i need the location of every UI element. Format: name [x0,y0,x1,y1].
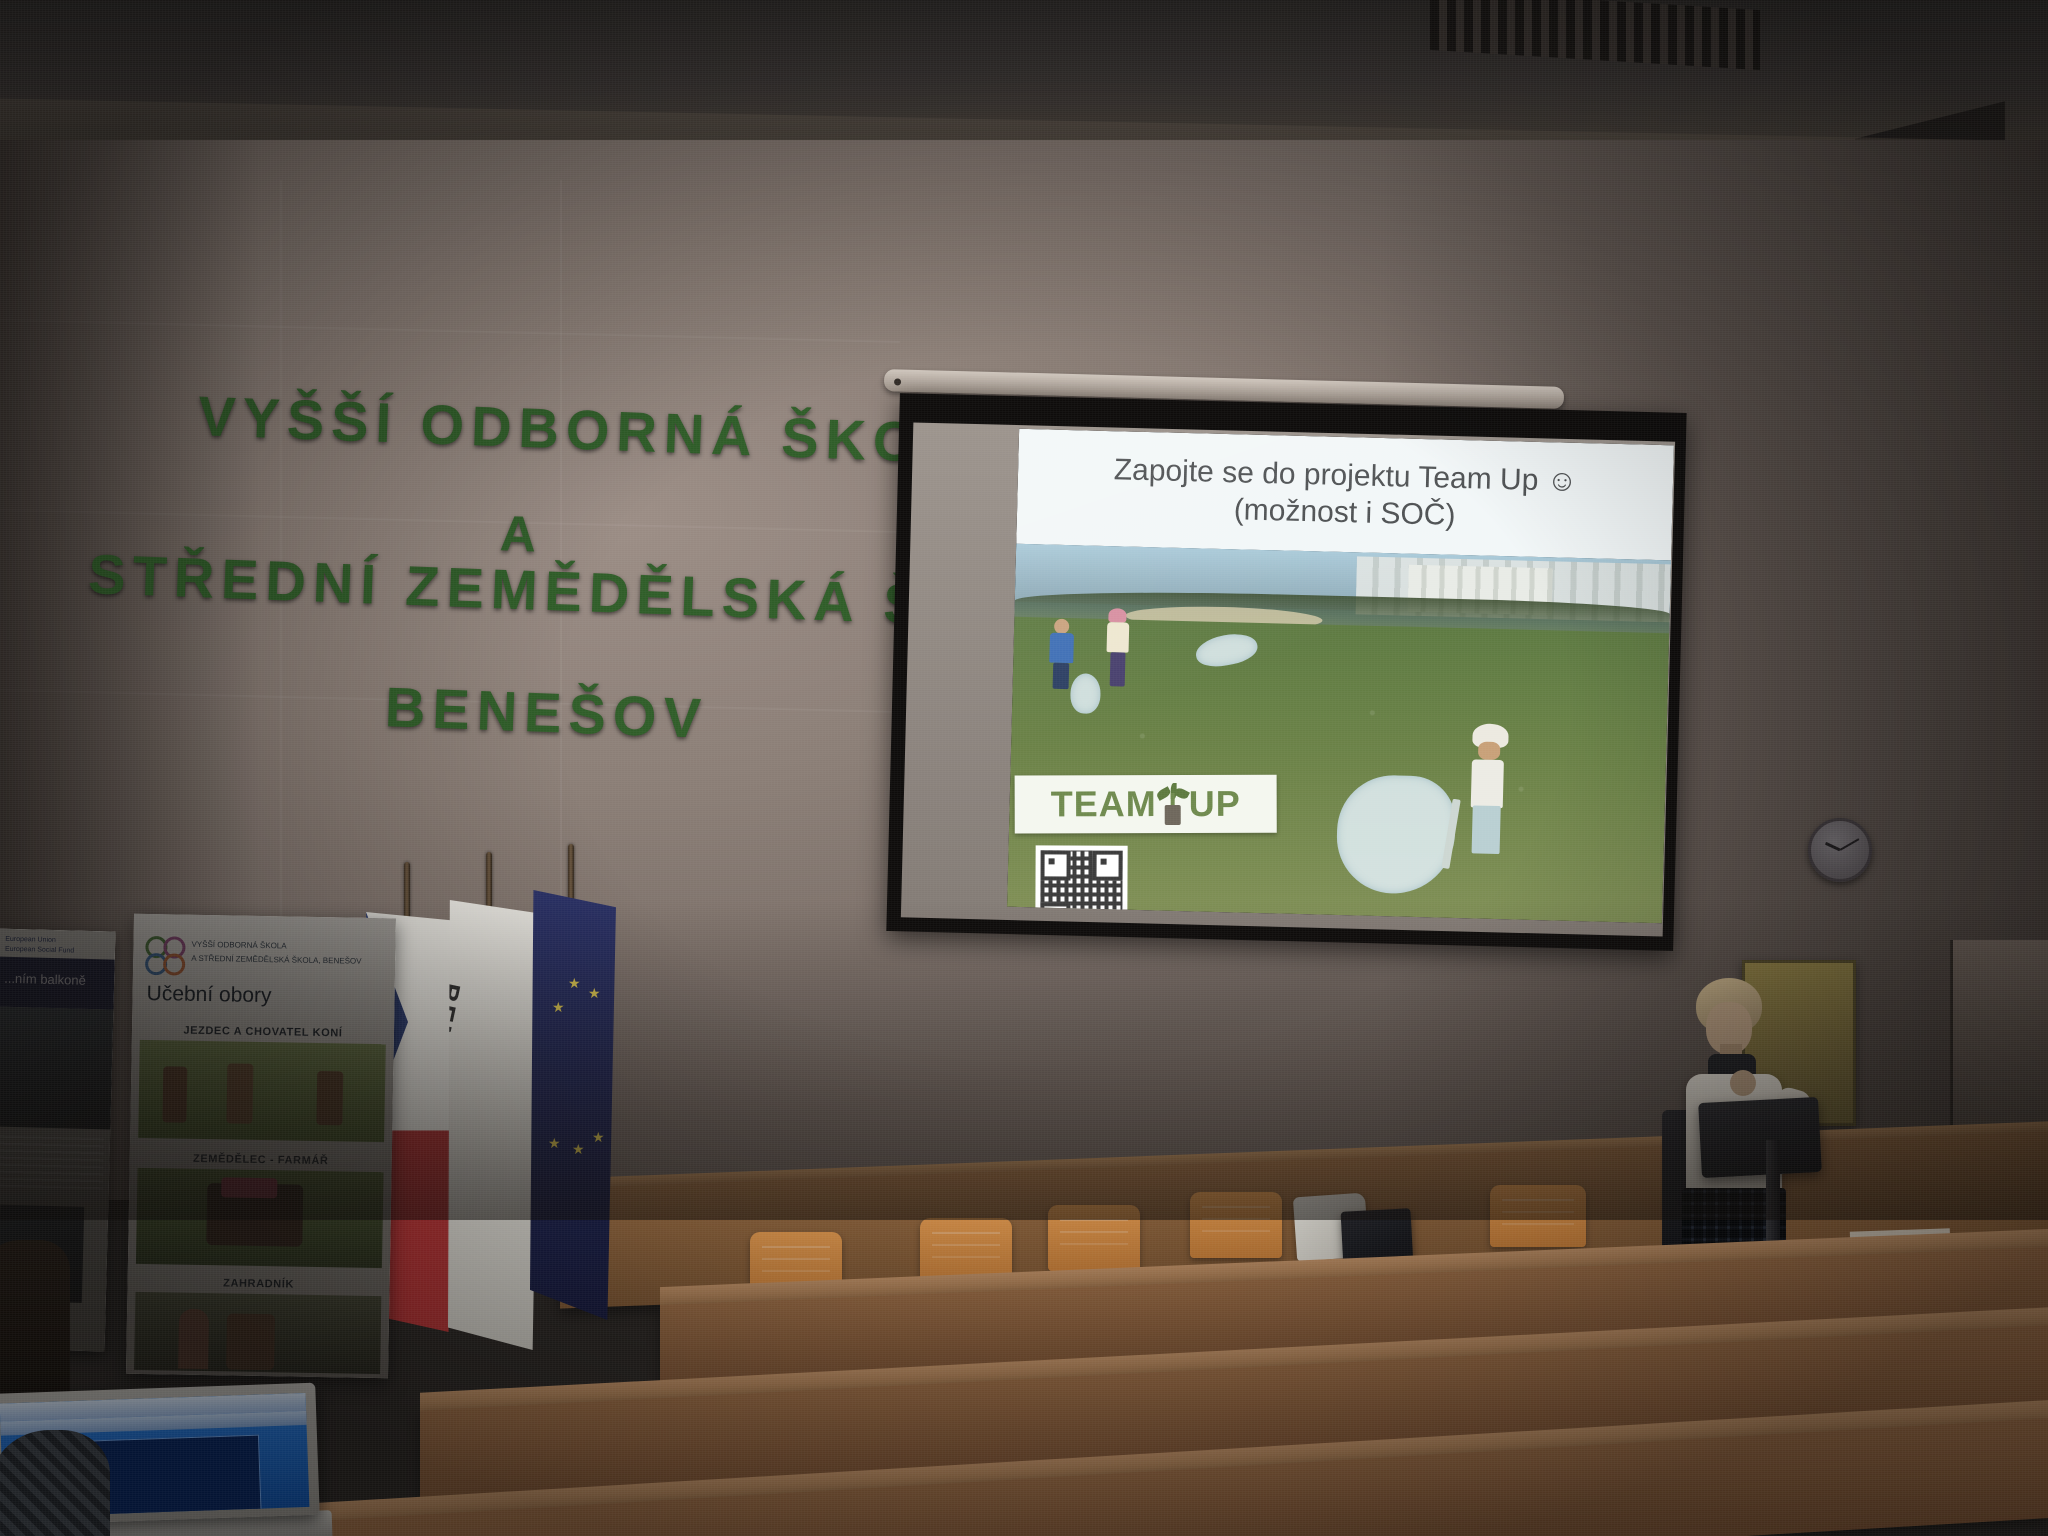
lecture-hall-photo: VYŠŠÍ ODBORNÁ ŠKOLA A STŘEDNÍ ZEMĚDĚLSKÁ… [0,0,2048,1536]
child-legs [1110,652,1126,686]
child-pants [1472,805,1501,854]
child-face [1478,742,1500,761]
clock-hour-hand [1825,842,1841,851]
photo-insect-net-1 [1070,673,1101,714]
slide-title-line-2: (možnost i SOČ) [1233,492,1456,534]
child-body [1107,622,1130,653]
lower-wall-shadow [0,900,2048,1220]
child-hat [1108,608,1126,622]
child-shirt [1471,759,1504,808]
projected-slide: Zapojte se do projektu Team Up ☺ (možnos… [1007,429,1674,923]
laptop-open-window[interactable] [87,1435,262,1518]
roller-knob [894,378,901,385]
wall-seam [560,180,562,920]
foreground-shoulder [0,1430,110,1536]
team-up-word-left: TEAM [1051,783,1157,825]
team-up-word-right: UP [1189,783,1241,825]
child-legs [1053,663,1070,689]
sprout-icon [1158,783,1188,825]
slide-title-line-1: Zapojte se do projektu Team Up ☺ [1113,452,1577,500]
wall-clock [1808,818,1872,882]
photo-child-white-cap [1464,723,1511,854]
clock-minute-hand [1840,838,1860,851]
child-body [1049,633,1074,664]
team-up-logo: TEAM UP [1015,775,1277,834]
photo-child-pink-hat [1103,608,1133,687]
wall-sign-line-4: BENEŠOV [384,674,709,751]
wall-sign-line-2: A [499,504,542,563]
slide-title-band: Zapojte se do projektu Team Up ☺ (možnos… [1016,429,1674,561]
photo-child-blue [1047,619,1077,690]
slide-photo: TEAM UP [1007,544,1671,923]
